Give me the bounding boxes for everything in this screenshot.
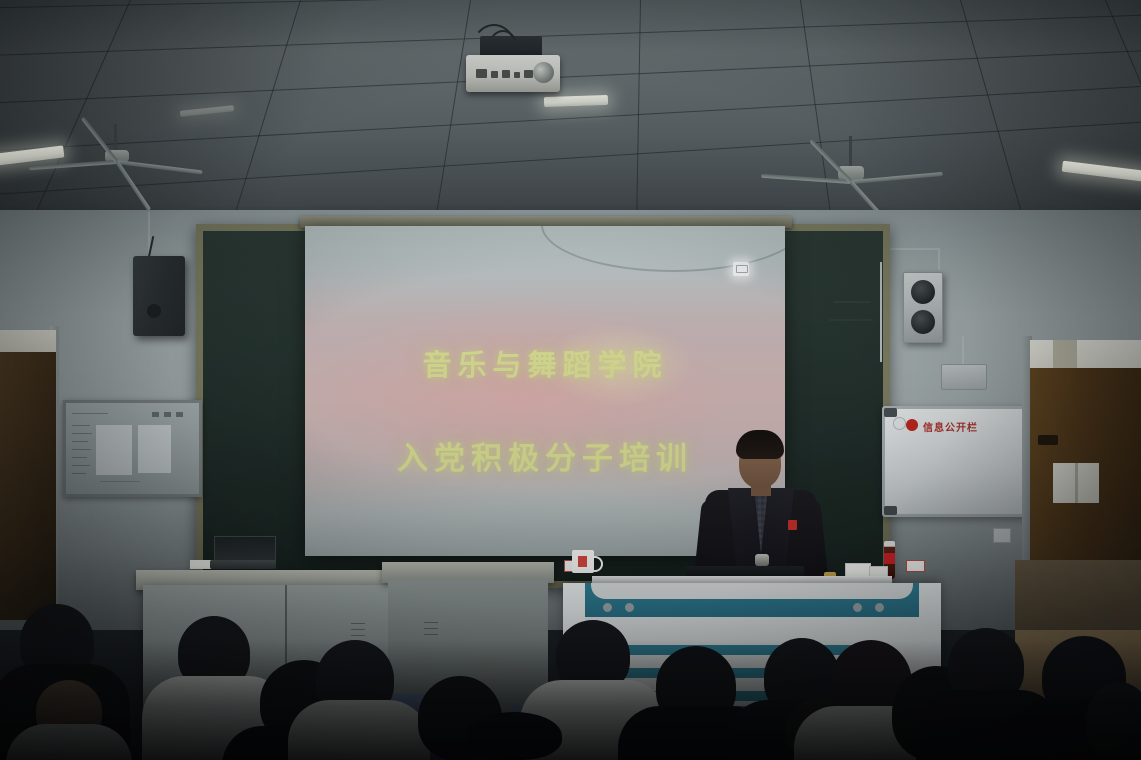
ceiling-shadow-left (0, 0, 420, 232)
foreground-shadow (0, 640, 1141, 760)
party-badge (788, 520, 797, 530)
ceiling-projector (466, 55, 560, 92)
mug-logo (578, 556, 587, 567)
laptop-keyboard[interactable] (210, 560, 276, 569)
presenter-lanyard-tag (755, 554, 769, 566)
ceiling-shadow-right (760, 0, 1141, 232)
classroom-photo: 音乐与舞蹈学院 入党积极分子培训 信息公开栏 (0, 0, 1141, 760)
projector-lens-icon (533, 62, 554, 83)
presenter-hair (736, 430, 784, 459)
ceiling (0, 0, 1141, 232)
wall-sign (906, 560, 925, 572)
podium-top-rail (563, 583, 941, 617)
cola-label (884, 553, 895, 564)
